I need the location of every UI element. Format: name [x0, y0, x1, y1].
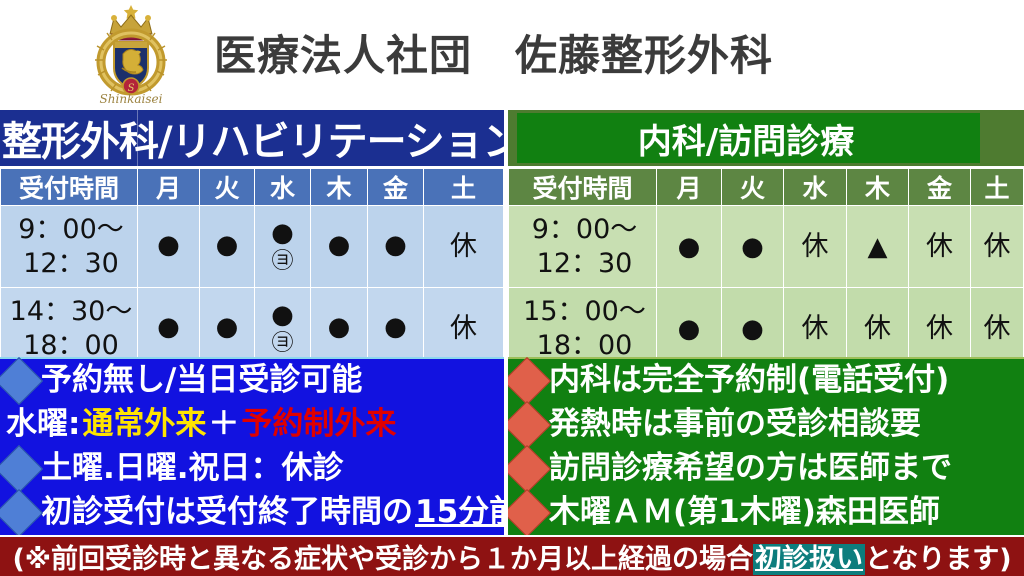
- diamond-bullet-icon: [0, 489, 43, 535]
- col-header-tuesday: 火: [200, 169, 255, 206]
- slot-mark: ●: [157, 314, 180, 340]
- time-line-1: 14：30～: [10, 296, 133, 327]
- col-header-time: 受付時間: [1, 169, 138, 206]
- note-text: 発熱時は事前の受診相談要: [549, 405, 923, 445]
- note-item: 水曜:通常外来＋予約制外来: [0, 403, 504, 447]
- col-header-monday: 月: [138, 169, 200, 206]
- logo-script-text: Shinkaisei: [100, 92, 163, 106]
- diamond-bullet-icon: [508, 357, 551, 405]
- internal-medicine-schedule-table: 受付時間 月 火 水 木 金 土 9：00～ 12：30 ● ●: [508, 168, 1024, 370]
- slot-thu-am: ▲: [847, 206, 909, 288]
- slot-mark: ●: [384, 314, 407, 340]
- page-title: 医療法人社団 佐藤整形外科: [214, 22, 773, 83]
- schedule-poster: S Shinkaisei 医療法人社団 佐藤整形外科 整形外科/リハビリテーショ…: [0, 0, 1024, 576]
- time-line-2: 12：30: [5, 247, 137, 281]
- col-header-friday: 金: [368, 169, 424, 206]
- slot-mark: 休: [450, 315, 477, 342]
- slot-mark: ▲: [868, 232, 888, 262]
- slot-mark: ●: [678, 314, 701, 344]
- internal-medicine-department-label: 内科/訪問診療: [508, 110, 1024, 166]
- note-text: 木曜ＡＭ(第1木曜)森田医師: [549, 493, 942, 533]
- slot-tue-am: ●: [200, 206, 255, 288]
- note-text: 予約無し/当日受診可能: [41, 361, 364, 401]
- poster-header: S Shinkaisei 医療法人社団 佐藤整形外科: [0, 0, 1024, 108]
- col-header-thursday: 木: [847, 169, 909, 206]
- note-item: 内科は完全予約制(電話受付): [508, 359, 1024, 403]
- note-text: 訪問診療希望の方は医師まで: [549, 449, 954, 489]
- slot-mark: 休: [926, 313, 953, 344]
- col-header-friday: 金: [909, 169, 971, 206]
- slot-mon-am: ●: [138, 206, 200, 288]
- diamond-bullet-icon: [508, 489, 551, 535]
- note-item: 発熱時は事前の受診相談要: [508, 403, 1024, 447]
- footer-suffix: となります): [865, 544, 1012, 575]
- slot-mark: 休: [802, 313, 829, 344]
- time-cell: 9：00～ 12：30: [1, 206, 138, 288]
- footer-prefix: (※前回受診時と異なる症状や受診から１か月以上経過の場合: [12, 544, 753, 575]
- slot-mark: 休: [802, 231, 829, 262]
- col-header-monday: 月: [657, 169, 722, 206]
- note-text: 内科は完全予約制(電話受付): [549, 361, 951, 401]
- diamond-bullet-icon: [508, 445, 551, 493]
- slot-tue-am: ●: [722, 206, 784, 288]
- slot-fri-am: ●: [368, 206, 424, 288]
- diamond-bullet-icon: [0, 357, 43, 405]
- slot-mark: ●: [741, 314, 764, 344]
- col-header-wednesday: 水: [255, 169, 311, 206]
- shinkaisei-crest-logo: S Shinkaisei: [88, 2, 174, 106]
- time-line-2: 12：30: [513, 247, 656, 281]
- orthopedics-schedule-table: 受付時間 月 火 水 木 金 土 9：00～ 12：30: [0, 168, 504, 370]
- slot-mark: 休: [984, 231, 1011, 262]
- slot-mark: ●: [271, 220, 294, 246]
- slot-sat-am: 休: [424, 206, 504, 288]
- note-item: 訪問診療希望の方は医師まで: [508, 447, 1024, 491]
- slot-mark: ●: [216, 232, 239, 258]
- slot-sat-am: 休: [971, 206, 1024, 288]
- slot-mark: ●: [328, 232, 351, 258]
- note-text-underlined: 15分前: [415, 493, 504, 533]
- orthopedics-department-band: 整形外科/リハビリテーション科: [0, 110, 504, 168]
- col-header-wednesday: 水: [784, 169, 847, 206]
- diamond-bullet-icon: [0, 445, 43, 493]
- slot-submark: ㋵: [271, 332, 293, 355]
- col-header-time: 受付時間: [509, 169, 657, 206]
- note-text: 土曜.日曜.祝日：休診: [41, 449, 346, 489]
- notes-list: 内科は完全予約制(電話受付) 発熱時は事前の受診相談要 訪問診療希望の方は医師ま…: [508, 357, 1024, 535]
- slot-thu-am: ●: [311, 206, 368, 288]
- col-header-thursday: 木: [311, 169, 368, 206]
- note-highlight-reservation-outpatient: 予約制外来: [241, 405, 398, 445]
- diamond-bullet-icon: [508, 401, 551, 449]
- note-text-prefix: 水曜:: [0, 405, 82, 445]
- orthopedics-panel: 整形外科/リハビリテーション科 受付時間 月 火 水 木 金 土: [0, 110, 504, 370]
- internal-medicine-notes-panel: 内科は完全予約制(電話受付) 発熱時は事前の受診相談要 訪問診療希望の方は医師ま…: [508, 357, 1024, 535]
- slot-mark: ●: [678, 232, 701, 262]
- slot-mark: 休: [984, 313, 1011, 344]
- footer-text: (※前回受診時と異なる症状や受診から１か月以上経過の場合初診扱いとなります): [12, 537, 1011, 576]
- note-item: 木曜ＡＭ(第1木曜)森田医師: [508, 491, 1024, 535]
- slot-mark: 休: [926, 231, 953, 262]
- slot-mark: ●: [741, 232, 764, 262]
- internal-medicine-panel: 内科/訪問診療 受付時間 月 火 水 木 金 土: [508, 110, 1024, 370]
- internal-medicine-department-band: 内科/訪問診療: [508, 110, 1024, 168]
- table-row: 9：00～ 12：30 ● ●: [1, 206, 504, 288]
- time-line-1: 9：00～: [532, 214, 638, 245]
- slot-fri-am: 休: [909, 206, 971, 288]
- note-plus-sign: ＋: [208, 405, 241, 445]
- slot-mark: ●: [216, 314, 239, 340]
- col-header-saturday: 土: [424, 169, 504, 206]
- slot-mark: ●: [271, 302, 294, 328]
- slot-wed-am: ● ㋵: [255, 206, 311, 288]
- orthopedics-notes-panel: 予約無し/当日受診可能 水曜:通常外来＋予約制外来 土曜.日曜.祝日：休診 初診…: [0, 357, 504, 535]
- slot-submark: ㋵: [271, 250, 293, 273]
- col-header-saturday: 土: [971, 169, 1024, 206]
- slot-mon-am: ●: [657, 206, 722, 288]
- footer-disclaimer-bar: (※前回受診時と異なる症状や受診から１か月以上経過の場合初診扱いとなります): [0, 537, 1024, 576]
- note-item: 初診受付は受付終了時間の15分前: [0, 491, 504, 535]
- slot-mark: 休: [450, 233, 477, 260]
- time-cell: 9：00～ 12：30: [509, 206, 657, 288]
- slot-mark: ●: [328, 314, 351, 340]
- table-header-row: 受付時間 月 火 水 木 金 土: [509, 169, 1024, 206]
- table-row: 9：00～ 12：30 ● ● 休 ▲ 休 休: [509, 206, 1024, 288]
- slot-mark: ●: [157, 232, 180, 258]
- note-item: 予約無し/当日受診可能: [0, 359, 504, 403]
- slot-mark: ●: [384, 232, 407, 258]
- slot-wed-am: 休: [784, 206, 847, 288]
- orthopedics-department-label: 整形外科/リハビリテーション科: [0, 110, 504, 166]
- notes-list: 予約無し/当日受診可能 水曜:通常外来＋予約制外来 土曜.日曜.祝日：休診 初診…: [0, 357, 504, 535]
- note-highlight-normal-outpatient: 通常外来: [82, 405, 208, 445]
- time-line-1: 9：00～: [18, 214, 124, 245]
- footer-highlight: 初診扱い: [753, 544, 865, 575]
- col-header-tuesday: 火: [722, 169, 784, 206]
- note-text-prefix: 初診受付は受付終了時間の: [41, 493, 415, 533]
- table-header-row: 受付時間 月 火 水 木 金 土: [1, 169, 504, 206]
- note-item: 土曜.日曜.祝日：休診: [0, 447, 504, 491]
- slot-mark: 休: [864, 313, 891, 344]
- time-line-1: 15：00～: [523, 296, 646, 327]
